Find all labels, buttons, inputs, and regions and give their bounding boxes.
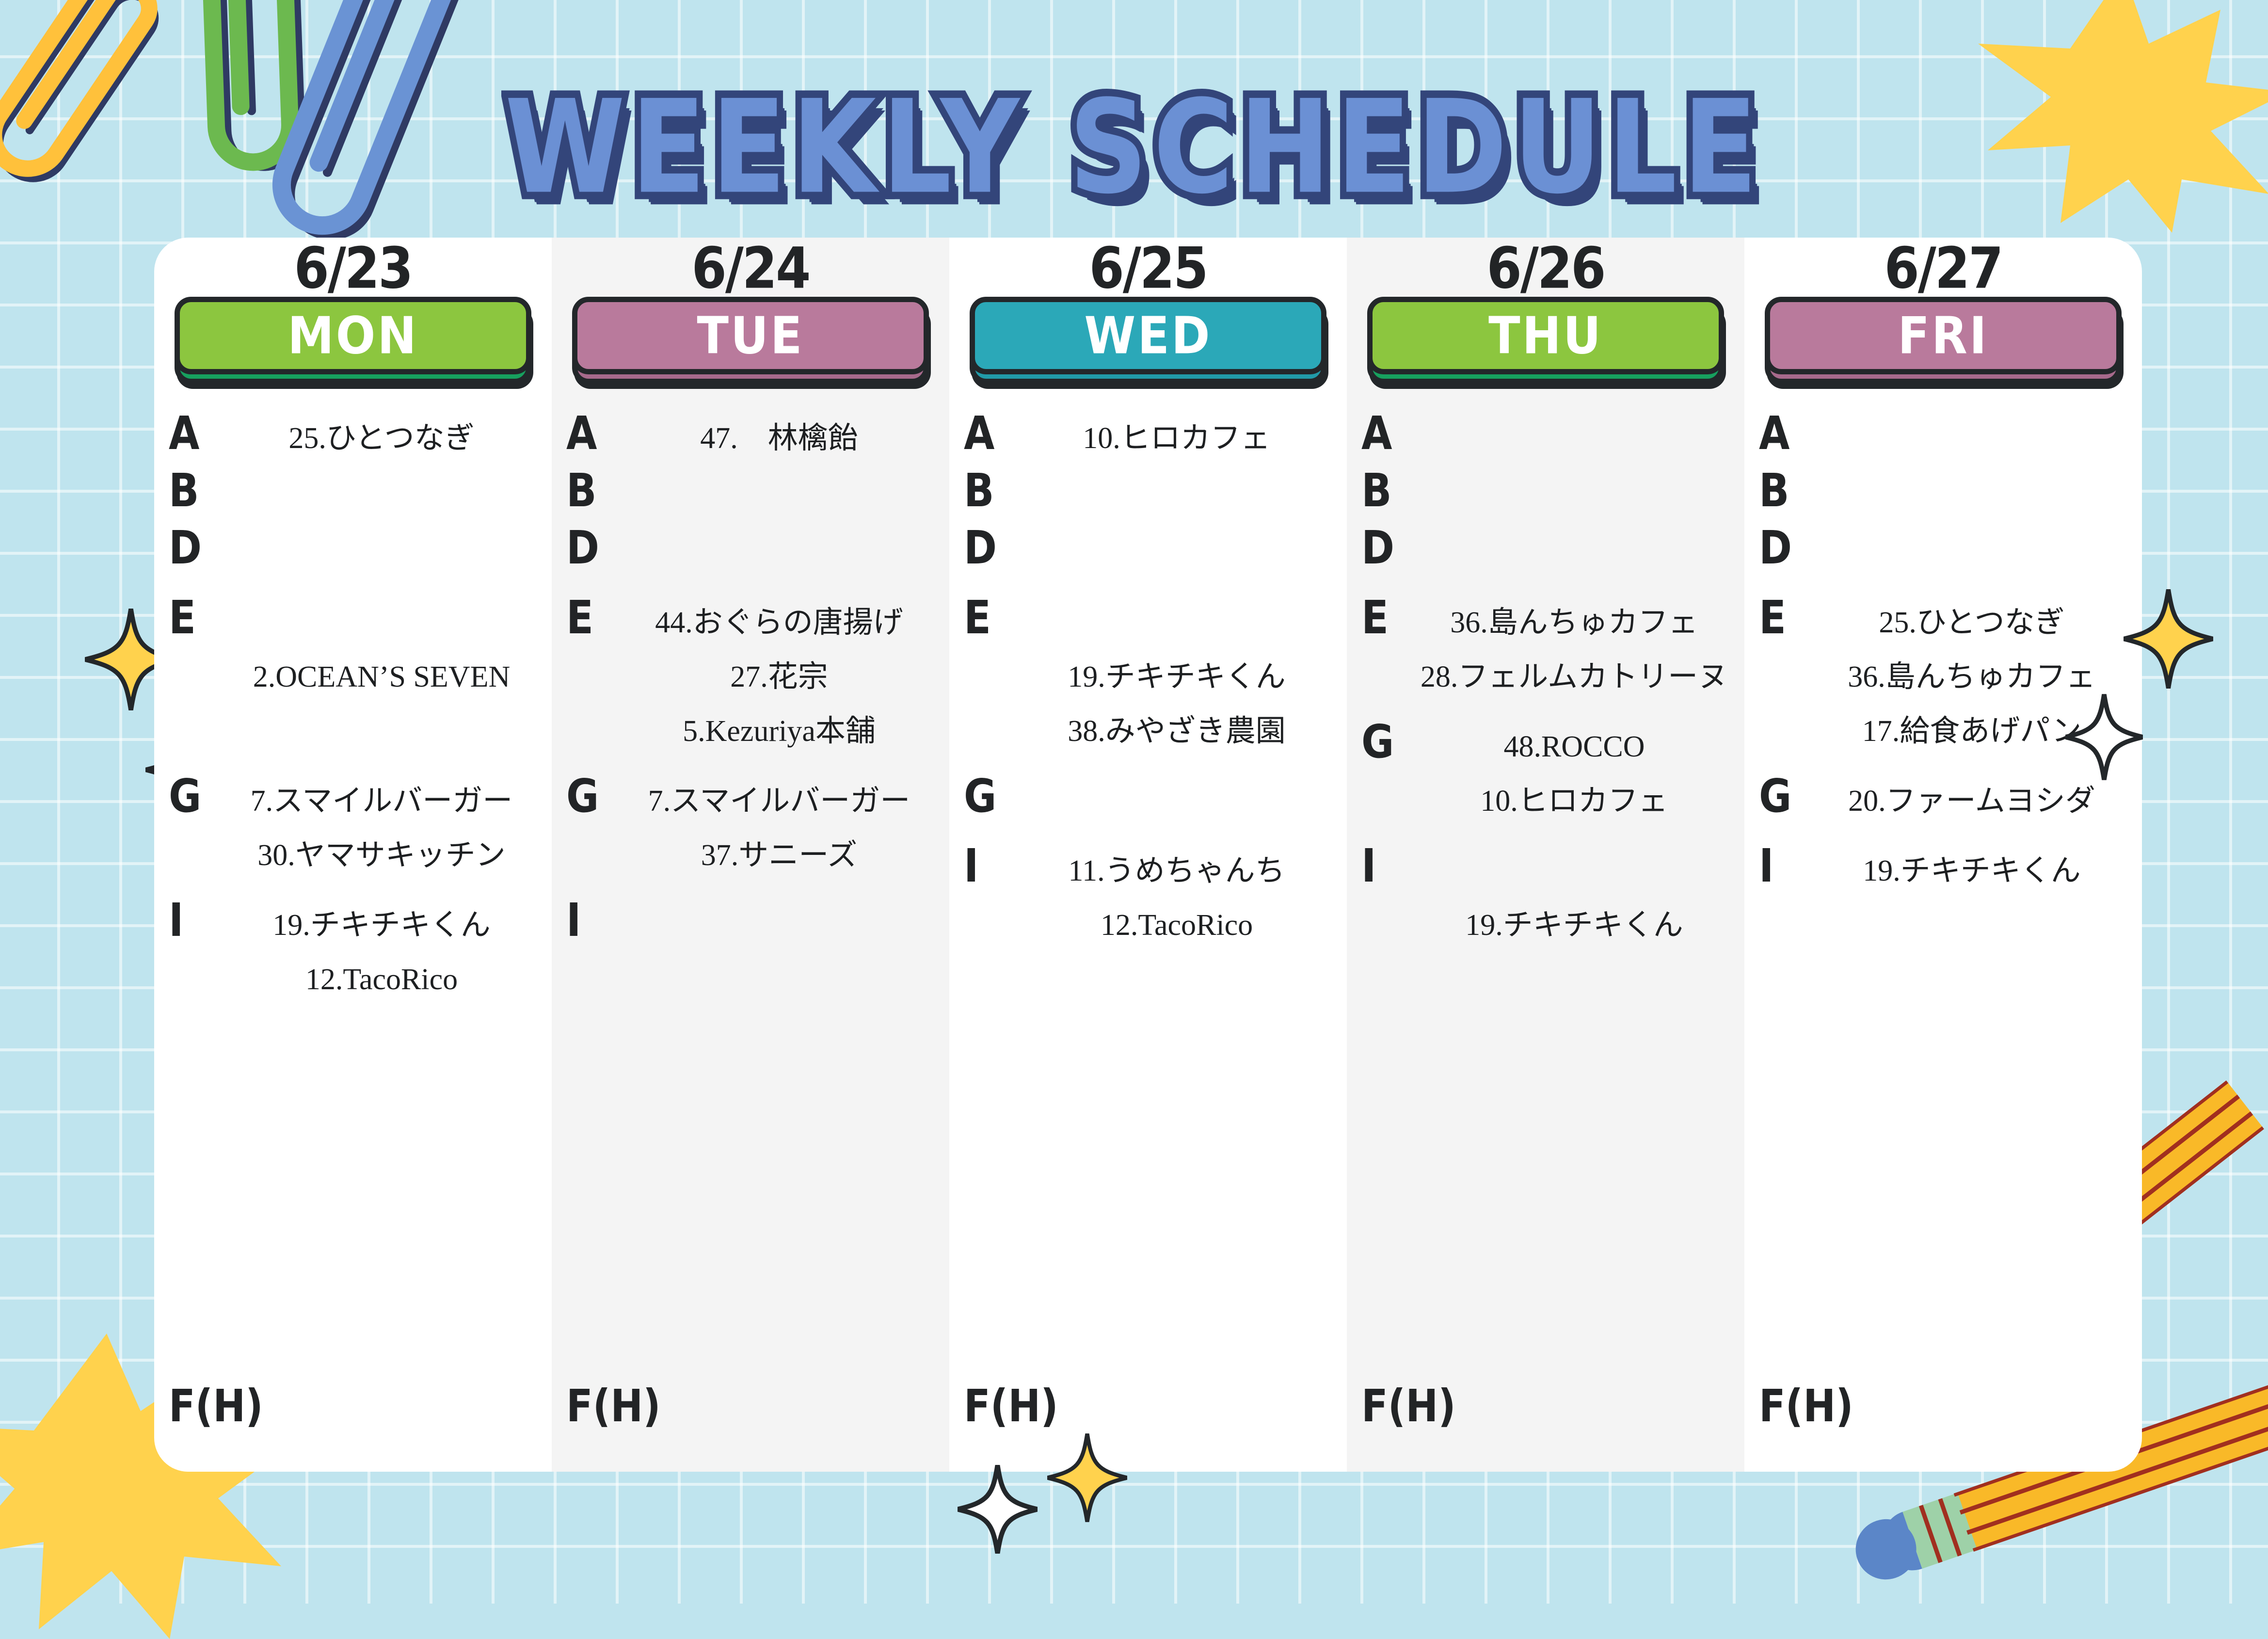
slot-items — [1416, 408, 1733, 466]
slot-items: 25.ひとつなぎ — [223, 408, 540, 466]
slot-label: D — [1759, 523, 1813, 574]
item-entry[interactable]: 36.島んちゅカフェ — [1416, 595, 1733, 650]
day-column-wed: 6/25WEDA10.ヒロカフェB D E 19.チキチキくん38.みやざき農園… — [949, 238, 1347, 1472]
slot-label: I — [1361, 841, 1416, 892]
slot-items: 25.ひとつなぎ36.島んちゅカフェ17.給食あげパン — [1813, 593, 2130, 758]
item-empty — [1813, 526, 2130, 580]
schedule-row: I 19.チキチキくん — [1361, 841, 1733, 952]
item-entry[interactable]: 27.花宗 — [621, 650, 938, 704]
item-entry[interactable]: 7.スマイルバーガー — [223, 774, 540, 828]
slot-label: B — [169, 466, 223, 517]
item-entry[interactable]: 20.ファームヨシダ — [1813, 774, 2130, 828]
day-header-mon: 6/23MON — [175, 238, 531, 398]
slot-label: I — [566, 895, 621, 947]
item-entry[interactable]: 19.チキチキくん — [223, 898, 540, 952]
slot-label: E — [169, 593, 223, 644]
item-entry[interactable]: 37.サニーズ — [621, 828, 938, 883]
slot-items: 11.うめちゃんち12.TacoRico — [1018, 841, 1335, 952]
schedule-row: I19.チキチキくん12.TacoRico — [169, 895, 540, 1007]
day-date: 6/24 — [572, 235, 929, 302]
slot-items: 19.チキチキくん38.みやざき農園 — [1018, 593, 1335, 758]
slot-label: A — [566, 408, 621, 460]
item-entry[interactable]: 38.みやざき農園 — [1018, 704, 1335, 758]
slot-label: A — [964, 408, 1018, 460]
slot-label: D — [566, 523, 621, 574]
day-column-fri: 6/27FRIA B D E25.ひとつなぎ36.島んちゅカフェ17.給食あげパ… — [1744, 238, 2142, 1472]
footer-slot-label: F(H) — [1759, 1380, 1853, 1432]
item-entry[interactable]: 10.ヒロカフェ — [1416, 774, 1733, 828]
slot-label: A — [1759, 408, 1813, 460]
day-header-thu: 6/26THU — [1367, 238, 1724, 398]
item-entry[interactable]: 48.ROCCO — [1416, 720, 1733, 774]
item-entry[interactable]: 11.うめちゃんち — [1018, 844, 1335, 898]
slot-items: 2.OCEAN’S SEVEN — [223, 593, 540, 758]
schedule-row: E 2.OCEAN’S SEVEN — [169, 593, 540, 758]
slot-items — [1018, 771, 1335, 828]
footer-slot-label: F(H) — [169, 1380, 263, 1432]
slot-items: 7.スマイルバーガー37.サニーズ — [621, 771, 938, 883]
item-entry[interactable]: 28.フェルムカトリーヌ — [1416, 650, 1733, 704]
schedule-row: D — [1759, 523, 2130, 580]
schedule-row: I11.うめちゃんち12.TacoRico — [964, 841, 1335, 952]
slot-label: D — [169, 523, 223, 574]
slot-label: E — [1759, 593, 1813, 644]
day-name-label: MON — [287, 305, 418, 365]
item-empty — [1018, 526, 1335, 580]
slot-label: G — [964, 771, 1018, 822]
schedule-row: E 19.チキチキくん38.みやざき農園 — [964, 593, 1335, 758]
day-name-label: THU — [1488, 305, 1603, 365]
slot-items: 19.チキチキくん — [1416, 841, 1733, 952]
slot-label: G — [1759, 771, 1813, 822]
slot-items — [1813, 523, 2130, 580]
slot-items — [1813, 466, 2130, 523]
day-header-tue: 6/24TUE — [572, 238, 929, 398]
item-entry[interactable]: 19.チキチキくん — [1813, 844, 2130, 898]
slot-items: 10.ヒロカフェ — [1018, 408, 1335, 466]
footer-slot-label: F(H) — [566, 1380, 661, 1432]
page-title: WEEKLY SCHEDULE — [505, 73, 1763, 223]
day-pill-wrap: TUE — [572, 297, 929, 389]
schedule-row: G7.スマイルバーガー37.サニーズ — [566, 771, 938, 883]
slot-label: D — [964, 523, 1018, 574]
day-pill-wrap: THU — [1367, 297, 1724, 389]
day-column-tue: 6/24TUEA47. 林檎飴B D E44.おぐらの唐揚げ27.花宗5.Kez… — [552, 238, 949, 1472]
slot-items: 44.おぐらの唐揚げ27.花宗5.Kezuriya本舗 — [621, 593, 938, 758]
day-pill-tue[interactable]: TUE — [572, 297, 929, 374]
schedule-row: A — [1759, 408, 2130, 466]
slot-items — [621, 466, 938, 523]
day-rows: A25.ひとつなぎB D E 2.OCEAN’S SEVEN G7.スマイルバー… — [154, 408, 552, 1007]
footer-slot-label: F(H) — [964, 1380, 1058, 1432]
slot-items: 20.ファームヨシダ — [1813, 771, 2130, 828]
day-pill-wrap: WED — [970, 297, 1326, 389]
schedule-row: A10.ヒロカフェ — [964, 408, 1335, 466]
day-date: 6/25 — [970, 235, 1326, 302]
item-empty — [223, 526, 540, 580]
item-empty — [1416, 468, 1733, 523]
item-entry[interactable]: 30.ヤマサキッチン — [223, 828, 540, 883]
slot-items: 47. 林檎飴 — [621, 408, 938, 466]
slot-items — [223, 523, 540, 580]
page-title-wrap: WEEKLY SCHEDULE — [0, 73, 2268, 200]
day-date: 6/23 — [175, 235, 531, 302]
day-date: 6/27 — [1765, 235, 2122, 302]
day-rows: A47. 林檎飴B D E44.おぐらの唐揚げ27.花宗5.Kezuriya本舗… — [552, 408, 949, 952]
schedule-row: G48.ROCCO10.ヒロカフェ — [1361, 717, 1733, 828]
slot-label: G — [566, 771, 621, 822]
schedule-row: E25.ひとつなぎ36.島んちゅカフェ17.給食あげパン — [1759, 593, 2130, 758]
slot-items: 19.チキチキくん — [1813, 841, 2130, 898]
item-empty — [1018, 774, 1335, 828]
day-date: 6/26 — [1367, 235, 1724, 302]
schedule-row: D — [1361, 523, 1733, 580]
slot-items: 7.スマイルバーガー30.ヤマサキッチン — [223, 771, 540, 883]
item-entry[interactable]: 5.Kezuriya本舗 — [621, 704, 938, 758]
slot-items — [223, 466, 540, 523]
item-entry[interactable]: 7.スマイルバーガー — [621, 774, 938, 828]
item-empty — [1018, 595, 1335, 650]
schedule-row: A — [1361, 408, 1733, 466]
item-empty — [1813, 468, 2130, 523]
item-entry[interactable]: 47. 林檎飴 — [621, 411, 938, 466]
footer-slot-label: F(H) — [1361, 1380, 1456, 1432]
day-name-label: FRI — [1898, 305, 1988, 365]
item-entry[interactable]: 36.島んちゅカフェ — [1813, 650, 2130, 704]
item-empty — [1813, 411, 2130, 466]
schedule-row: I — [566, 895, 938, 952]
slot-items — [1018, 523, 1335, 580]
schedule-row: D — [566, 523, 938, 580]
item-empty — [621, 468, 938, 523]
item-empty — [1416, 526, 1733, 580]
schedule-row: D — [964, 523, 1335, 580]
item-empty — [1018, 468, 1335, 523]
slot-label: D — [1361, 523, 1416, 574]
day-pill-thu[interactable]: THU — [1367, 297, 1724, 374]
day-pill-wrap: FRI — [1765, 297, 2122, 389]
item-entry[interactable]: 2.OCEAN’S SEVEN — [223, 650, 540, 704]
schedule-row: B — [964, 466, 1335, 523]
schedule-row: B — [1759, 466, 2130, 523]
slot-label: B — [1361, 466, 1416, 517]
schedule-row: A25.ひとつなぎ — [169, 408, 540, 466]
sparkle-white-bottom — [958, 1464, 1038, 1554]
item-entry[interactable]: 12.TacoRico — [1018, 898, 1335, 952]
day-column-mon: 6/23MONA25.ひとつなぎB D E 2.OCEAN’S SEVEN G7… — [154, 238, 552, 1472]
slot-items — [1018, 466, 1335, 523]
day-rows: A B D E36.島んちゅカフェ28.フェルムカトリーヌG48.ROCCO10… — [1347, 408, 1744, 952]
day-column-thu: 6/26THUA B D E36.島んちゅカフェ28.フェルムカトリーヌG48.… — [1347, 238, 1744, 1472]
day-pill-mon[interactable]: MON — [175, 297, 531, 374]
slot-label: I — [964, 841, 1018, 892]
schedule-row: B — [1361, 466, 1733, 523]
day-pill-wed[interactable]: WED — [970, 297, 1326, 374]
day-columns: 6/23MONA25.ひとつなぎB D E 2.OCEAN’S SEVEN G7… — [154, 238, 2142, 1472]
item-entry[interactable]: 10.ヒロカフェ — [1018, 411, 1335, 466]
item-empty — [1416, 411, 1733, 466]
item-empty — [621, 526, 938, 580]
slot-label: E — [964, 593, 1018, 644]
slot-label: B — [566, 466, 621, 517]
slot-items — [1416, 523, 1733, 580]
schedule-row: I19.チキチキくん — [1759, 841, 2130, 898]
slot-label: E — [1361, 593, 1416, 644]
day-name-label: TUE — [697, 305, 804, 365]
item-empty — [223, 468, 540, 523]
day-name-label: WED — [1084, 305, 1212, 365]
slot-items: 36.島んちゅカフェ28.フェルムカトリーヌ — [1416, 593, 1733, 704]
slot-label: A — [169, 408, 223, 460]
slot-items: 19.チキチキくん12.TacoRico — [223, 895, 540, 1007]
item-empty — [223, 595, 540, 650]
slot-label: E — [566, 593, 621, 644]
day-pill-wrap: MON — [175, 297, 531, 389]
schedule-card: 6/23MONA25.ひとつなぎB D E 2.OCEAN’S SEVEN G7… — [154, 238, 2142, 1472]
slot-items — [1813, 408, 2130, 466]
item-entry[interactable]: 25.ひとつなぎ — [1813, 595, 2130, 650]
item-empty — [223, 704, 540, 758]
slot-label: I — [169, 895, 223, 947]
day-header-wed: 6/25WED — [970, 238, 1326, 398]
slot-label: B — [1759, 466, 1813, 517]
item-entry[interactable]: 25.ひとつなぎ — [223, 411, 540, 466]
slot-label: A — [1361, 408, 1416, 460]
item-entry[interactable]: 19.チキチキくん — [1416, 898, 1733, 952]
slot-label: I — [1759, 841, 1813, 892]
day-rows: A10.ヒロカフェB D E 19.チキチキくん38.みやざき農園G I11.う… — [949, 408, 1347, 952]
day-pill-fri[interactable]: FRI — [1765, 297, 2122, 374]
slot-items — [1416, 466, 1733, 523]
schedule-row: B — [566, 466, 938, 523]
schedule-row: G — [964, 771, 1335, 828]
schedule-row: D — [169, 523, 540, 580]
slot-label: B — [964, 466, 1018, 517]
day-rows: A B D E25.ひとつなぎ36.島んちゅカフェ17.給食あげパンG20.ファ… — [1744, 408, 2142, 898]
item-empty — [621, 898, 938, 952]
item-entry[interactable]: 19.チキチキくん — [1018, 650, 1335, 704]
schedule-row: E44.おぐらの唐揚げ27.花宗5.Kezuriya本舗 — [566, 593, 938, 758]
schedule-row: G20.ファームヨシダ — [1759, 771, 2130, 828]
schedule-row: E36.島んちゅカフェ28.フェルムカトリーヌ — [1361, 593, 1733, 704]
slot-items: 48.ROCCO10.ヒロカフェ — [1416, 717, 1733, 828]
slot-items — [621, 895, 938, 952]
item-entry[interactable]: 44.おぐらの唐揚げ — [621, 595, 938, 650]
day-header-fri: 6/27FRI — [1765, 238, 2122, 398]
item-empty — [1416, 844, 1733, 898]
slot-label: G — [169, 771, 223, 822]
item-entry[interactable]: 12.TacoRico — [223, 952, 540, 1007]
schedule-row: G7.スマイルバーガー30.ヤマサキッチン — [169, 771, 540, 883]
slot-items — [621, 523, 938, 580]
schedule-row: A47. 林檎飴 — [566, 408, 938, 466]
slot-label: G — [1361, 717, 1416, 768]
item-entry[interactable]: 17.給食あげパン — [1813, 704, 2130, 758]
schedule-row: B — [169, 466, 540, 523]
